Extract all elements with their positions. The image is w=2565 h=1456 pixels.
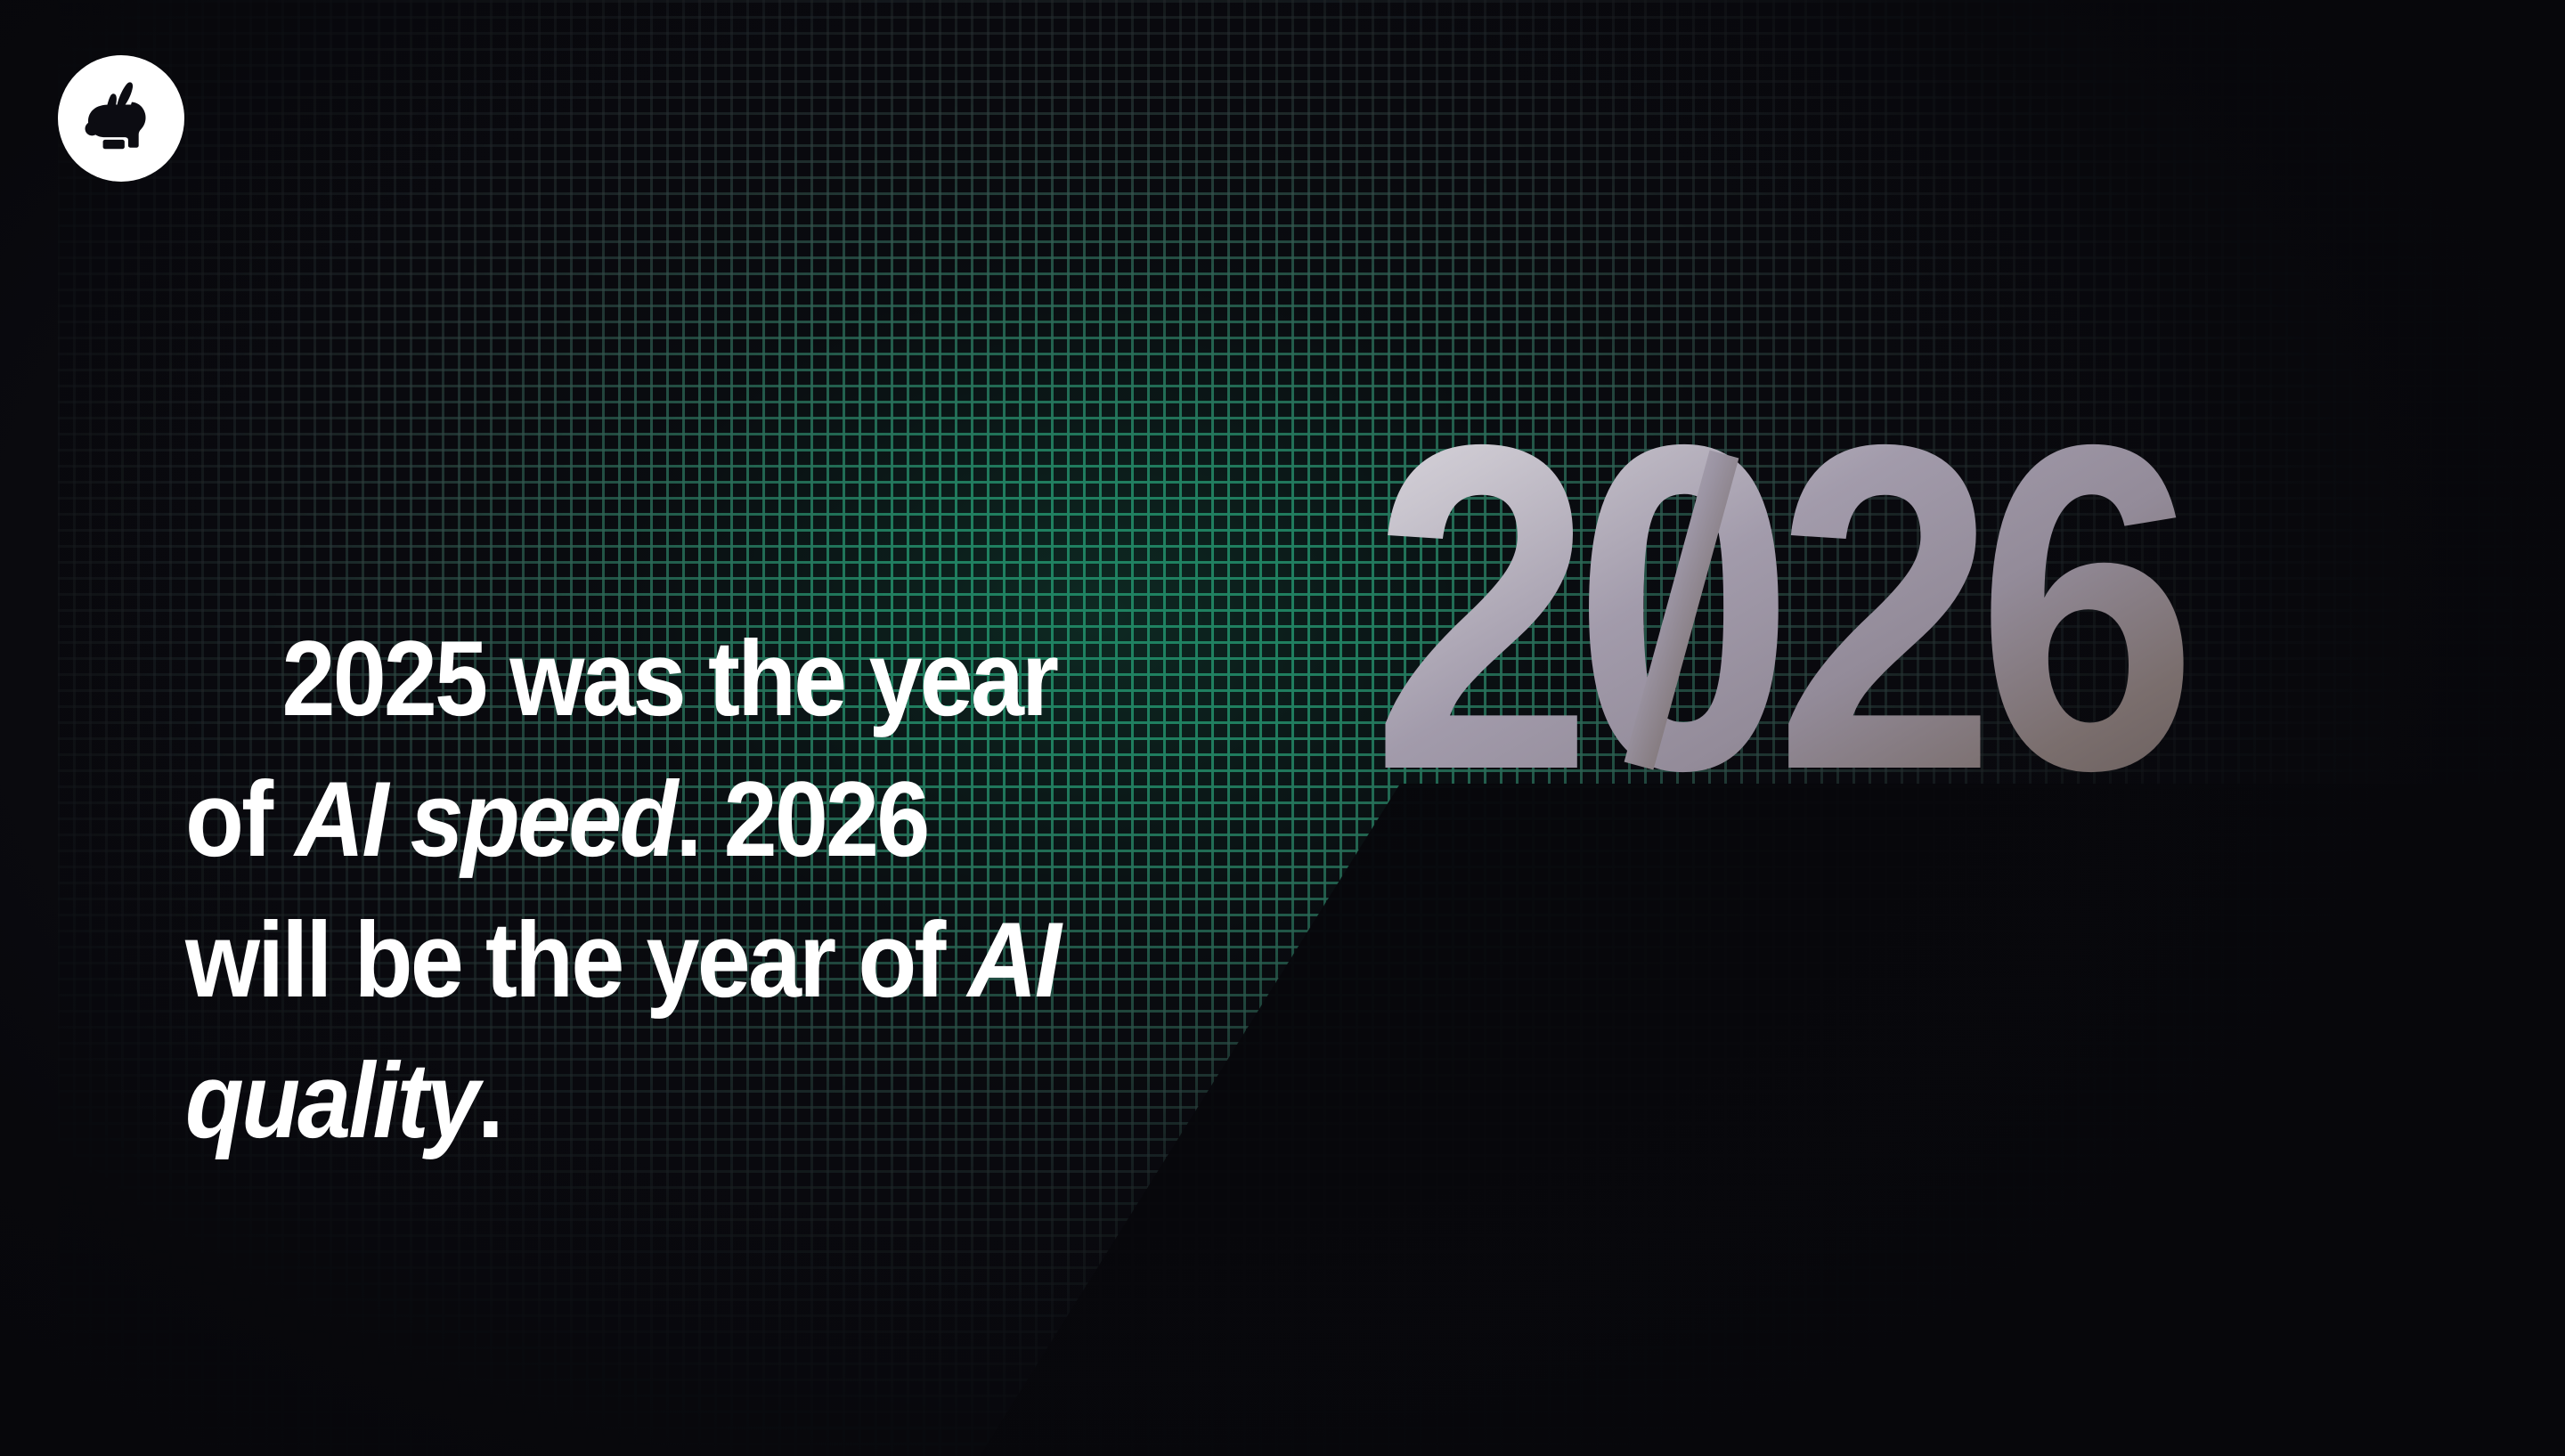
headline-seg-5: . bbox=[477, 1041, 501, 1160]
rabbit-logo[interactable] bbox=[58, 55, 184, 182]
headline-seg-2-italic: AI speed bbox=[295, 760, 675, 879]
hero-banner: 2026 2025 was the year of AI speed. 2026… bbox=[0, 0, 2565, 1456]
headline: 2025 was the year of AI speed. 2026 will… bbox=[185, 468, 1091, 1312]
left-gutter bbox=[0, 0, 58, 1456]
rabbit-logo-icon bbox=[80, 77, 162, 159]
